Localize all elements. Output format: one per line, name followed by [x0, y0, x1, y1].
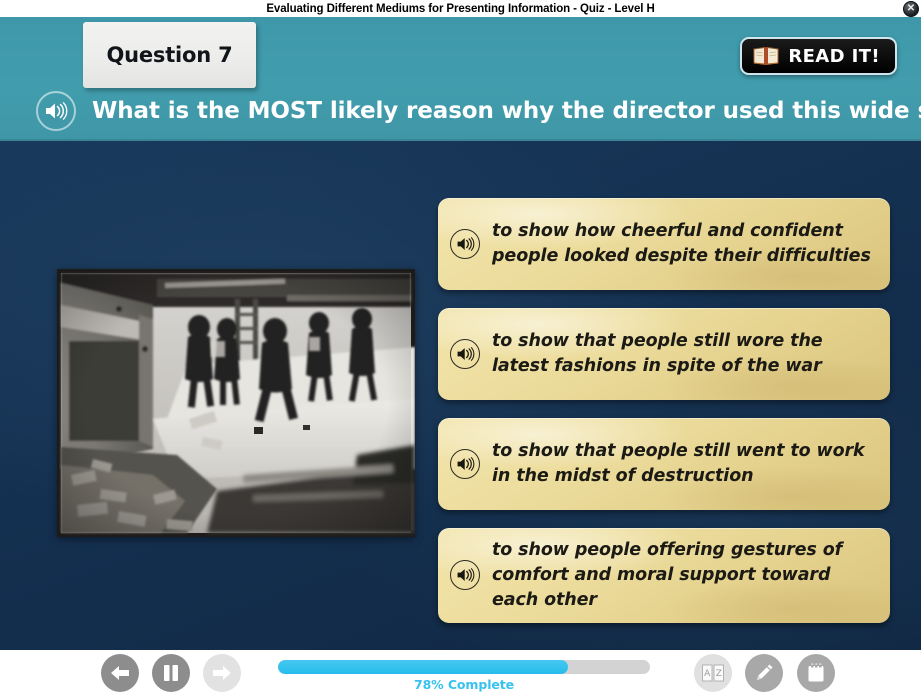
speaker-icon: [44, 101, 68, 121]
close-icon[interactable]: ✕: [903, 1, 919, 17]
question-number-label: Question 7: [106, 43, 232, 67]
answer-option-text: to show that people still went to work i…: [492, 439, 876, 489]
svg-text:A: A: [704, 669, 711, 679]
bottom-toolbar: 78% Complete A Z: [0, 650, 921, 695]
progress-label: 78% Complete: [278, 677, 650, 692]
pencil-icon: [753, 662, 775, 684]
answer-option[interactable]: to show that people still went to work i…: [438, 418, 890, 510]
speaker-icon: [456, 567, 475, 583]
progress-section: 78% Complete: [278, 660, 650, 692]
read-it-label: READ IT!: [788, 46, 880, 67]
speaker-icon: [456, 236, 475, 252]
svg-text:Z: Z: [716, 669, 722, 679]
answer-speaker-button[interactable]: [450, 339, 480, 369]
answer-option-text: to show how cheerful and confident peopl…: [492, 219, 876, 269]
progress-bar-fill: [278, 660, 568, 674]
read-it-button[interactable]: READ IT!: [740, 37, 897, 75]
question-row: What is the MOST likely reason why the d…: [36, 91, 906, 131]
progress-bar: [278, 660, 650, 674]
pause-icon: [162, 663, 180, 683]
answer-option[interactable]: to show how cheerful and confident peopl…: [438, 198, 890, 290]
question-number-tab: Question 7: [83, 22, 256, 88]
forward-button[interactable]: [203, 654, 241, 692]
answer-option[interactable]: to show that people still wore the lates…: [438, 308, 890, 400]
dictionary-book-icon: A Z: [701, 663, 725, 683]
arrow-left-icon: [109, 663, 131, 683]
content-area: to show how cheerful and confident peopl…: [0, 141, 921, 650]
answer-speaker-button[interactable]: [450, 229, 480, 259]
header-bar: Question 7 READ IT!: [0, 17, 921, 141]
film-still-graphic: [57, 269, 415, 537]
question-text: What is the MOST likely reason why the d…: [92, 98, 921, 124]
notepad-icon: [806, 662, 826, 684]
pause-button[interactable]: [152, 654, 190, 692]
window-title: Evaluating Different Mediums for Present…: [266, 3, 654, 15]
answer-option-text: to show people offering gestures of comf…: [492, 538, 876, 613]
answer-speaker-button[interactable]: [450, 560, 480, 590]
answer-options-list: to show how cheerful and confident peopl…: [438, 198, 890, 623]
speaker-icon: [456, 456, 475, 472]
quiz-application: Evaluating Different Mediums for Present…: [0, 0, 921, 695]
speaker-icon: [456, 346, 475, 362]
answer-option[interactable]: to show people offering gestures of comf…: [438, 528, 890, 623]
dictionary-button[interactable]: A Z: [694, 654, 732, 692]
historical-film-still[interactable]: [57, 269, 415, 537]
pencil-button[interactable]: [745, 654, 783, 692]
titlebar: Evaluating Different Mediums for Present…: [0, 0, 921, 17]
back-button[interactable]: [101, 654, 139, 692]
notes-button[interactable]: [797, 654, 835, 692]
answer-option-text: to show that people still wore the lates…: [492, 329, 876, 379]
close-glyph: ✕: [907, 4, 915, 14]
question-speaker-button[interactable]: [36, 91, 76, 131]
answer-speaker-button[interactable]: [450, 449, 480, 479]
open-book-icon: [753, 46, 779, 66]
arrow-right-icon: [211, 663, 233, 683]
